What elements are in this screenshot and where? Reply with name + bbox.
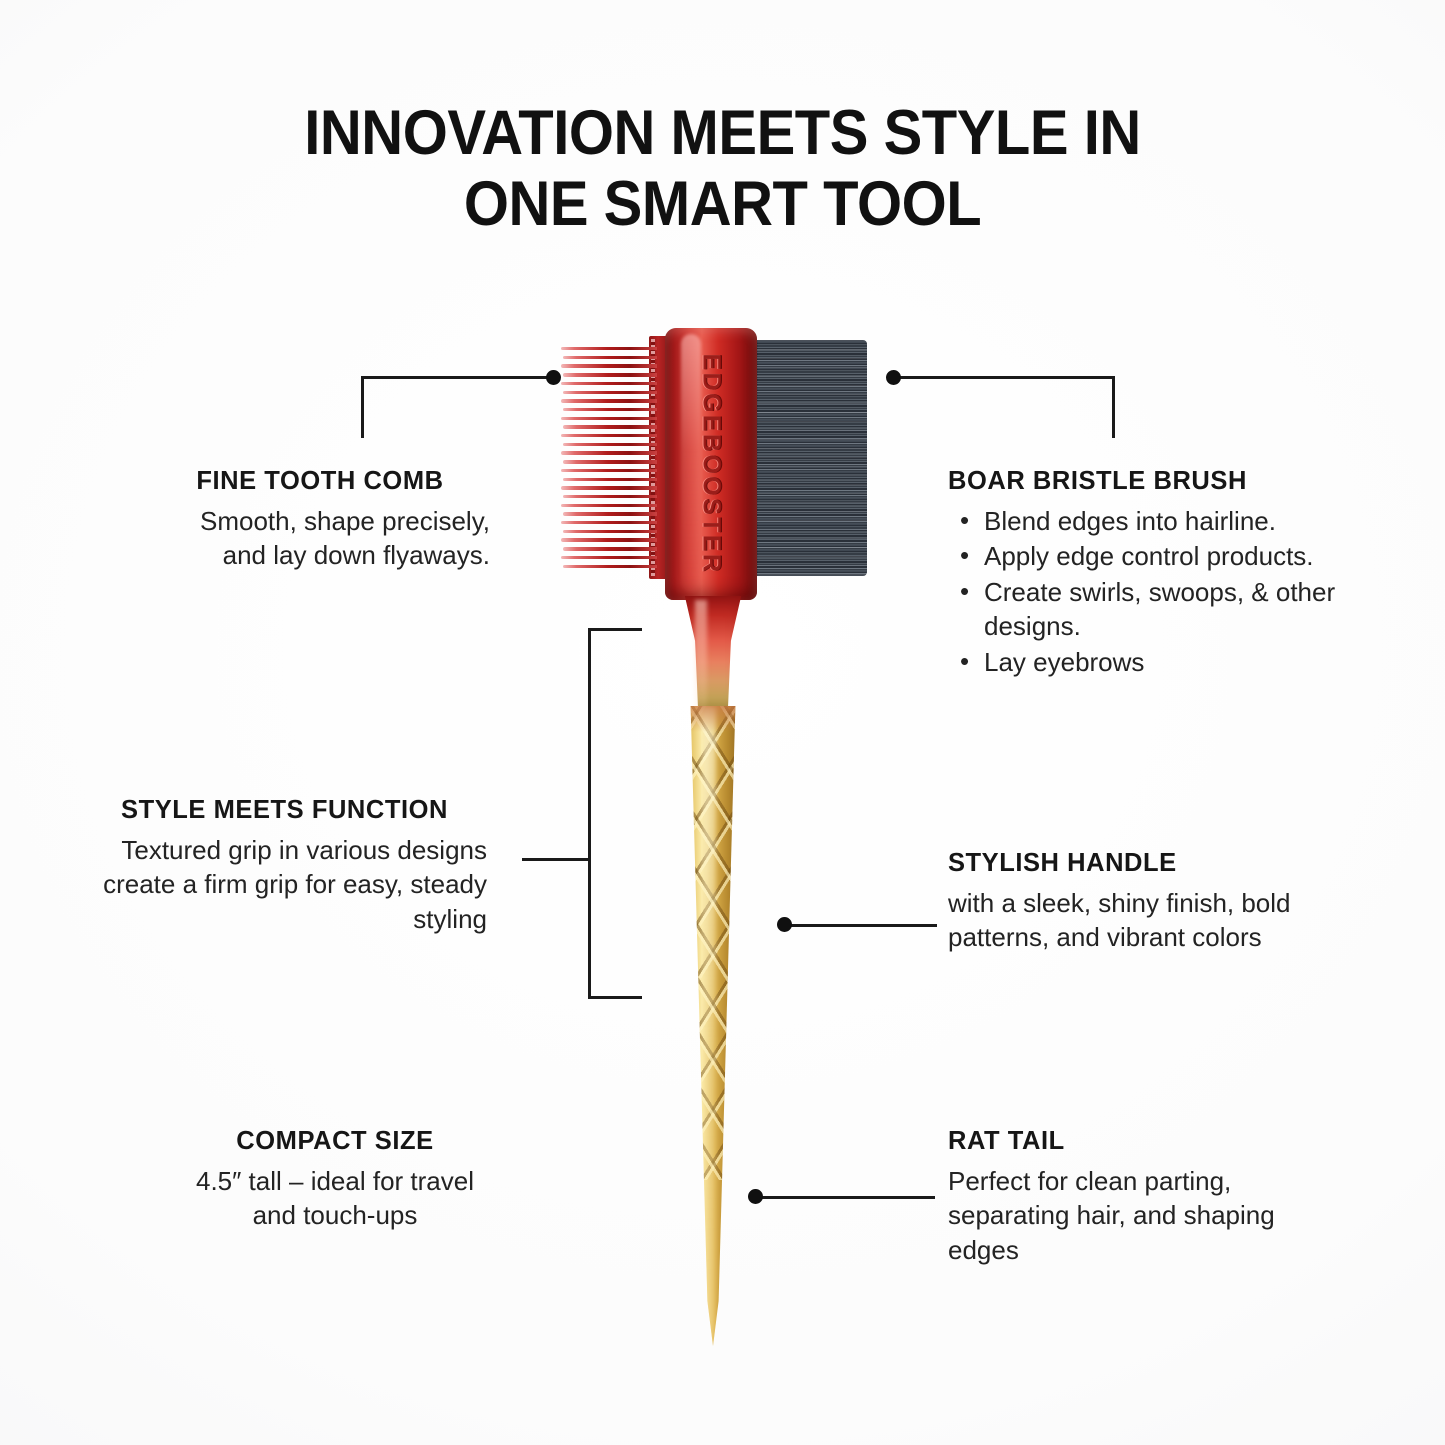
- leader-line-fine-tooth-comb-horizontal: [361, 376, 553, 379]
- comb-tooth: [561, 417, 657, 420]
- brush-head-body: EDGEBOOSTER: [665, 328, 757, 600]
- leader-dot-boar-bristle: [886, 370, 901, 385]
- product-infographic: INNOVATION MEETS STYLE IN ONE SMART TOOL: [0, 0, 1445, 1445]
- brand-logo-text: EDGEBOOSTER: [697, 354, 726, 575]
- feature-heading-rat-tail: RAT TAIL: [948, 1126, 1348, 1157]
- gold-textured-handle-rat-tail: [673, 706, 753, 1346]
- leader-dot-rat-tail: [748, 1189, 763, 1204]
- title-line-2: ONE SMART TOOL: [58, 169, 1387, 240]
- feature-heading-fine-tooth-comb: FINE TOOTH COMB: [150, 466, 490, 497]
- comb-tooth: [563, 512, 657, 515]
- feature-boar-bristle-brush: BOAR BRISTLE BRUSH Blend edges into hair…: [948, 466, 1368, 680]
- comb-tooth: [561, 434, 657, 437]
- feature-heading-boar-bristle-brush: BOAR BRISTLE BRUSH: [948, 466, 1368, 497]
- comb-tooth: [563, 460, 657, 463]
- fine-tooth-comb-teeth: [561, 345, 657, 570]
- comb-tooth: [563, 495, 657, 498]
- feature-heading-stylish-handle: STYLISH HANDLE: [948, 848, 1348, 879]
- list-item: Blend edges into hairline.: [948, 504, 1368, 539]
- feature-body-style-meets-function: Textured grip in various designs create …: [82, 833, 487, 937]
- comb-tooth: [561, 486, 657, 489]
- leader-bracket-style-function-stem: [522, 858, 590, 861]
- comb-tooth: [561, 347, 657, 350]
- neck-highlight: [695, 600, 707, 708]
- handle-left-shadow: [673, 706, 687, 1346]
- leader-dot-fine-tooth-comb: [546, 370, 561, 385]
- feature-body-compact-size: 4.5″ tall – ideal for travel and touch-u…: [175, 1164, 495, 1233]
- feature-heading-compact-size: COMPACT SIZE: [175, 1126, 495, 1157]
- feature-heading-style-meets-function: STYLE MEETS FUNCTION: [82, 795, 487, 826]
- comb-tooth: [561, 469, 657, 472]
- comb-tooth: [561, 521, 657, 524]
- comb-tooth: [561, 538, 657, 541]
- handle-highlight: [703, 706, 716, 1346]
- leader-line-stylish-handle: [787, 924, 937, 927]
- comb-tooth: [561, 399, 657, 402]
- leader-bracket-style-function-bottom-arm: [588, 996, 642, 999]
- feature-rat-tail: RAT TAIL Perfect for clean parting, sepa…: [948, 1126, 1348, 1267]
- feature-body-rat-tail: Perfect for clean parting, separating ha…: [948, 1164, 1348, 1268]
- comb-tooth: [563, 443, 657, 446]
- comb-tooth: [563, 373, 657, 376]
- title-line-1: INNOVATION MEETS STYLE IN: [58, 98, 1387, 169]
- feature-body-stylish-handle: with a sleek, shiny finish, bold pattern…: [948, 886, 1348, 955]
- list-item: Lay eyebrows: [948, 645, 1368, 680]
- comb-tooth: [563, 356, 657, 359]
- product-image-edge-booster-brush: EDGEBOOSTER: [545, 310, 905, 1350]
- list-item: Apply edge control products.: [948, 539, 1368, 574]
- leader-bracket-style-function-spine: [588, 628, 591, 998]
- comb-tooth: [563, 530, 657, 533]
- leader-line-boar-bristle-horizontal: [893, 376, 1115, 379]
- leader-line-fine-tooth-comb-vertical: [361, 376, 364, 438]
- comb-tooth: [563, 547, 657, 550]
- boar-bristle-brush-head: [755, 340, 867, 576]
- leader-dot-stylish-handle: [777, 917, 792, 932]
- comb-tooth: [561, 382, 657, 385]
- feature-bullet-list-boar-bristle-brush: Blend edges into hairline. Apply edge co…: [948, 504, 1368, 680]
- feature-body-fine-tooth-comb: Smooth, shape precisely, and lay down fl…: [150, 504, 490, 573]
- handle-top-color-fade: [673, 706, 753, 732]
- comb-tooth: [561, 556, 657, 559]
- feature-style-meets-function: STYLE MEETS FUNCTION Textured grip in va…: [82, 795, 487, 936]
- handle-right-shadow: [739, 706, 753, 1346]
- comb-tooth: [563, 565, 657, 568]
- comb-tooth: [563, 391, 657, 394]
- feature-stylish-handle: STYLISH HANDLE with a sleek, shiny finis…: [948, 848, 1348, 955]
- comb-tooth: [563, 425, 657, 428]
- feature-compact-size: COMPACT SIZE 4.5″ tall – ideal for trave…: [175, 1126, 495, 1233]
- comb-tooth: [563, 408, 657, 411]
- comb-tooth: [563, 478, 657, 481]
- leader-bracket-style-function-top-arm: [588, 628, 642, 631]
- page-title: INNOVATION MEETS STYLE IN ONE SMART TOOL: [58, 98, 1387, 240]
- list-item: Create swirls, swoops, & other designs.: [948, 575, 1368, 644]
- comb-tooth: [561, 504, 657, 507]
- comb-tooth: [561, 364, 657, 367]
- handle-neck: [681, 596, 745, 714]
- leader-line-rat-tail: [757, 1196, 935, 1199]
- feature-fine-tooth-comb: FINE TOOTH COMB Smooth, shape precisely,…: [150, 466, 490, 573]
- comb-tooth: [561, 451, 657, 454]
- leader-line-boar-bristle-vertical: [1112, 376, 1115, 438]
